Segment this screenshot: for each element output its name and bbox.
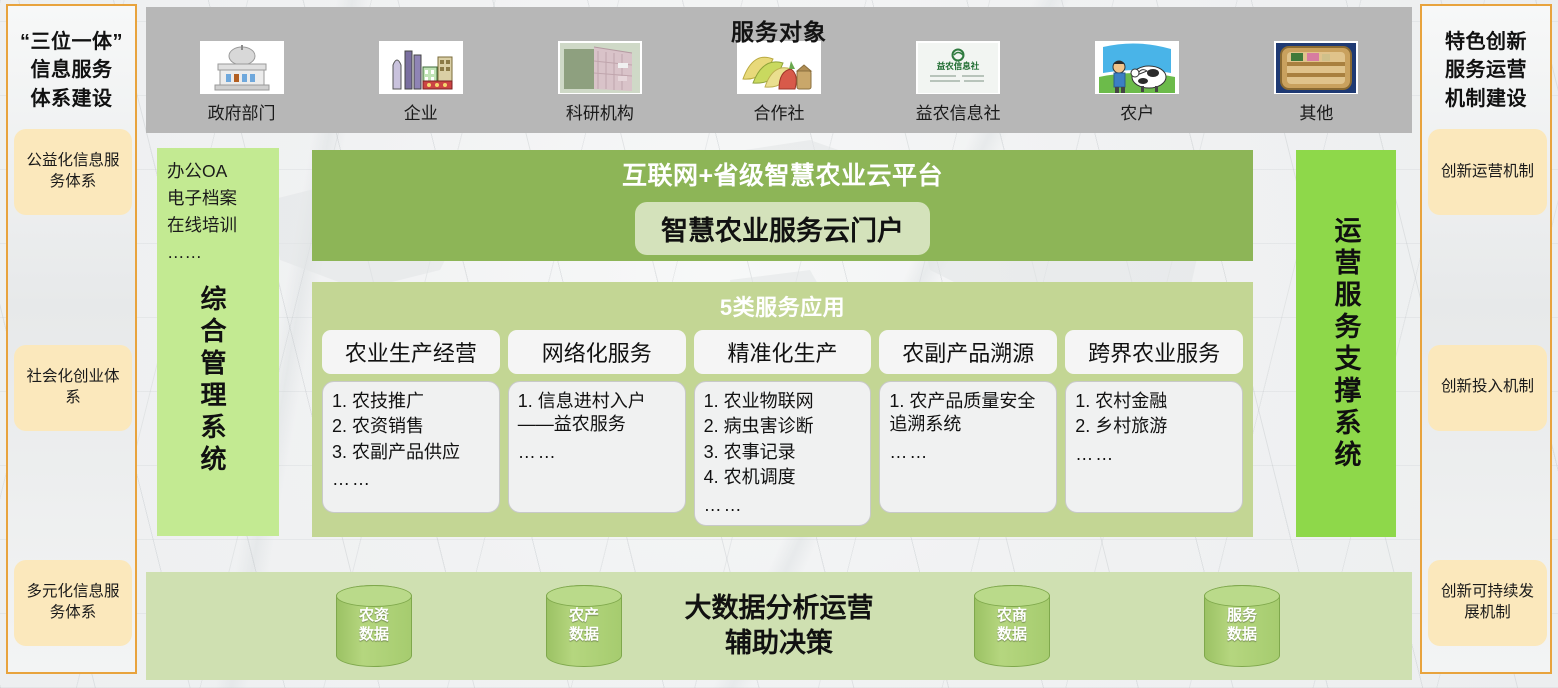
app-ellipsis: …… <box>518 441 679 464</box>
database-label-line1: 农资 <box>359 607 389 624</box>
operation-support-title: 运营服务支撑系统 <box>1327 216 1366 472</box>
app-head-cross-border-agri[interactable]: 跨界农业服务 <box>1065 330 1243 374</box>
service-object-cooperative[interactable]: 合作社 <box>689 41 868 124</box>
app-body-network-service: 1. 信息进村入户——益农服务 …… <box>508 381 686 513</box>
left-pillar-item-diversified-info[interactable]: 多元化信息服务体系 <box>14 560 132 646</box>
app-item: 4. 农机调度 <box>704 466 865 489</box>
app-item: 3. 农事记录 <box>704 441 865 464</box>
right-pillar-title-line: 服务运营 <box>1445 56 1527 84</box>
farmer-cow-icon <box>1095 41 1179 94</box>
service-objects-title: 服务对象 <box>146 13 1412 47</box>
right-pillar-item-innovative-operation[interactable]: 创新运营机制 <box>1428 129 1547 215</box>
database-label-line1: 农商 <box>997 607 1027 624</box>
app-item: 1. 农业物联网 <box>704 390 865 413</box>
app-column-precision-production: 精准化生产 1. 农业物联网 2. 病虫害诊断 3. 农事记录 4. 农机调度 … <box>694 330 872 526</box>
app-column-product-traceability: 农副产品溯源 1. 农产品质量安全追溯系统 …… <box>879 330 1057 513</box>
service-objects-band: 服务对象 政府部门 企业 科研机构 <box>146 7 1412 133</box>
database-label: 农资 数据 <box>359 607 389 645</box>
database-label: 服务 数据 <box>1227 607 1257 645</box>
app-ellipsis: …… <box>332 468 493 491</box>
left-pillar-title-line: “三位一体” <box>20 28 123 56</box>
right-pillar-title-line: 机制建设 <box>1445 85 1527 113</box>
right-pillar: 特色创新 服务运营 机制建设 创新运营机制 创新投入机制 创新可持续发展机制 <box>1420 4 1552 674</box>
service-object-yinong[interactable]: 益农信息社 益农信息社 <box>869 41 1048 124</box>
service-object-label: 政府部门 <box>208 99 276 124</box>
government-building-icon <box>200 41 284 94</box>
left-pillar-items: 公益化信息服务体系 社会化创业体系 多元化信息服务体系 <box>14 129 129 664</box>
app-ellipsis: …… <box>704 494 865 517</box>
cloud-platform-band: 互联网+省级智慧农业云平台 智慧农业服务云门户 <box>312 150 1253 261</box>
service-applications-row: 农业生产经营 1. 农技推广 2. 农资销售 3. 农副产品供应 …… 网络化服… <box>322 330 1243 526</box>
shelf-icon <box>1274 41 1358 94</box>
app-item: 2. 病虫害诊断 <box>704 415 865 438</box>
database-label-line2: 数据 <box>569 626 599 643</box>
app-body-cross-border-agri: 1. 农村金融 2. 乡村旅游 …… <box>1065 381 1243 513</box>
comprehensive-management-panel: 办公OA 电子档案 在线培训 …… 综合管理系统 <box>157 148 279 536</box>
svg-text:益农信息社: 益农信息社 <box>937 61 980 72</box>
service-object-label: 企业 <box>404 99 438 124</box>
database-service[interactable]: 服务 数据 <box>1204 585 1280 667</box>
service-applications-title: 5类服务应用 <box>322 290 1243 322</box>
app-item: 1. 农村金融 <box>1075 390 1236 413</box>
operation-support-panel: 运营服务支撑系统 <box>1296 150 1396 537</box>
cylinder-top-icon <box>546 585 622 607</box>
app-item: 1. 农技推广 <box>332 390 493 413</box>
bigdata-band: 大数据分析运营 辅助决策 农资 数据 农产 数据 农商 数据 <box>146 572 1412 680</box>
service-object-label: 科研机构 <box>566 99 634 124</box>
service-object-label: 农户 <box>1120 99 1154 124</box>
service-object-label: 合作社 <box>753 99 804 124</box>
app-column-agri-production: 农业生产经营 1. 农技推广 2. 农资销售 3. 农副产品供应 …… <box>322 330 500 513</box>
database-label-line2: 数据 <box>1227 626 1257 643</box>
left-pillar-item-social-entrepreneurship[interactable]: 社会化创业体系 <box>14 345 132 431</box>
yinong-card-icon: 益农信息社 <box>916 41 1000 94</box>
left-pillar: “三位一体” 信息服务 体系建设 公益化信息服务体系 社会化创业体系 多元化信息… <box>6 4 137 674</box>
database-label-line2: 数据 <box>997 626 1027 643</box>
app-ellipsis: …… <box>889 441 1050 464</box>
app-item: 2. 农资销售 <box>332 415 493 438</box>
app-body-product-traceability: 1. 农产品质量安全追溯系统 …… <box>879 381 1057 513</box>
research-building-icon <box>558 41 642 94</box>
service-object-research[interactable]: 科研机构 <box>510 41 689 124</box>
right-pillar-title: 特色创新 服务运营 机制建设 <box>1445 28 1527 113</box>
app-column-network-service: 网络化服务 1. 信息进村入户——益农服务 …… <box>508 330 686 513</box>
database-label-line1: 农产 <box>569 607 599 624</box>
database-agri-products[interactable]: 农产 数据 <box>546 585 622 667</box>
left-pillar-title-line: 信息服务 <box>20 56 123 84</box>
app-ellipsis: …… <box>1075 443 1236 466</box>
app-item: 2. 乡村旅游 <box>1075 415 1236 438</box>
mgmt-line-ellipsis: …… <box>167 239 271 266</box>
database-label-line1: 服务 <box>1227 607 1257 624</box>
mgmt-line-training: 在线培训 <box>167 212 271 239</box>
app-item: 3. 农副产品供应 <box>332 441 493 464</box>
service-object-government[interactable]: 政府部门 <box>152 41 331 124</box>
database-agri-commerce[interactable]: 农商 数据 <box>974 585 1050 667</box>
left-pillar-title: “三位一体” 信息服务 体系建设 <box>20 28 123 113</box>
app-head-network-service[interactable]: 网络化服务 <box>508 330 686 374</box>
app-item: 1. 农产品质量安全追溯系统 <box>889 390 1050 437</box>
database-label-line2: 数据 <box>359 626 389 643</box>
right-pillar-title-line: 特色创新 <box>1445 28 1527 56</box>
app-body-agri-production: 1. 农技推广 2. 农资销售 3. 农副产品供应 …… <box>322 381 500 513</box>
app-body-precision-production: 1. 农业物联网 2. 病虫害诊断 3. 农事记录 4. 农机调度 …… <box>694 381 872 526</box>
mgmt-line-oa: 办公OA <box>167 158 271 185</box>
service-object-label: 其他 <box>1299 99 1333 124</box>
right-pillar-items: 创新运营机制 创新投入机制 创新可持续发展机制 <box>1428 129 1544 664</box>
cylinder-top-icon <box>1204 585 1280 607</box>
left-pillar-item-public-welfare[interactable]: 公益化信息服务体系 <box>14 129 132 215</box>
database-label: 农商 数据 <box>997 607 1027 645</box>
service-applications-band: 5类服务应用 农业生产经营 1. 农技推广 2. 农资销售 3. 农副产品供应 … <box>312 282 1253 537</box>
comprehensive-management-title: 综合管理系统 <box>199 285 225 477</box>
app-head-product-traceability[interactable]: 农副产品溯源 <box>879 330 1057 374</box>
mgmt-line-archive: 电子档案 <box>167 185 271 212</box>
app-head-precision-production[interactable]: 精准化生产 <box>694 330 872 374</box>
right-pillar-item-sustainable-development[interactable]: 创新可持续发展机制 <box>1428 560 1547 646</box>
service-object-farmer[interactable]: 农户 <box>1048 41 1227 124</box>
service-object-enterprise[interactable]: 企业 <box>331 41 510 124</box>
cloud-portal-button[interactable]: 智慧农业服务云门户 <box>635 202 930 255</box>
app-item: 1. 信息进村入户——益农服务 <box>518 390 679 437</box>
diagram-root: “三位一体” 信息服务 体系建设 公益化信息服务体系 社会化创业体系 多元化信息… <box>0 0 1558 688</box>
service-object-label: 益农信息社 <box>916 99 1001 124</box>
cylinder-top-icon <box>974 585 1050 607</box>
right-pillar-item-innovative-investment[interactable]: 创新投入机制 <box>1428 345 1547 431</box>
app-head-agri-production[interactable]: 农业生产经营 <box>322 330 500 374</box>
left-pillar-title-line: 体系建设 <box>20 85 123 113</box>
service-object-other[interactable]: 其他 <box>1227 41 1406 124</box>
crops-icon <box>737 41 821 94</box>
cylinder-top-icon <box>336 585 412 607</box>
factory-icon <box>379 41 463 94</box>
database-label: 农产 数据 <box>569 607 599 645</box>
database-agri-inputs[interactable]: 农资 数据 <box>336 585 412 667</box>
cloud-platform-title: 互联网+省级智慧农业云平台 <box>622 156 943 192</box>
app-column-cross-border-agri: 跨界农业服务 1. 农村金融 2. 乡村旅游 …… <box>1065 330 1243 513</box>
